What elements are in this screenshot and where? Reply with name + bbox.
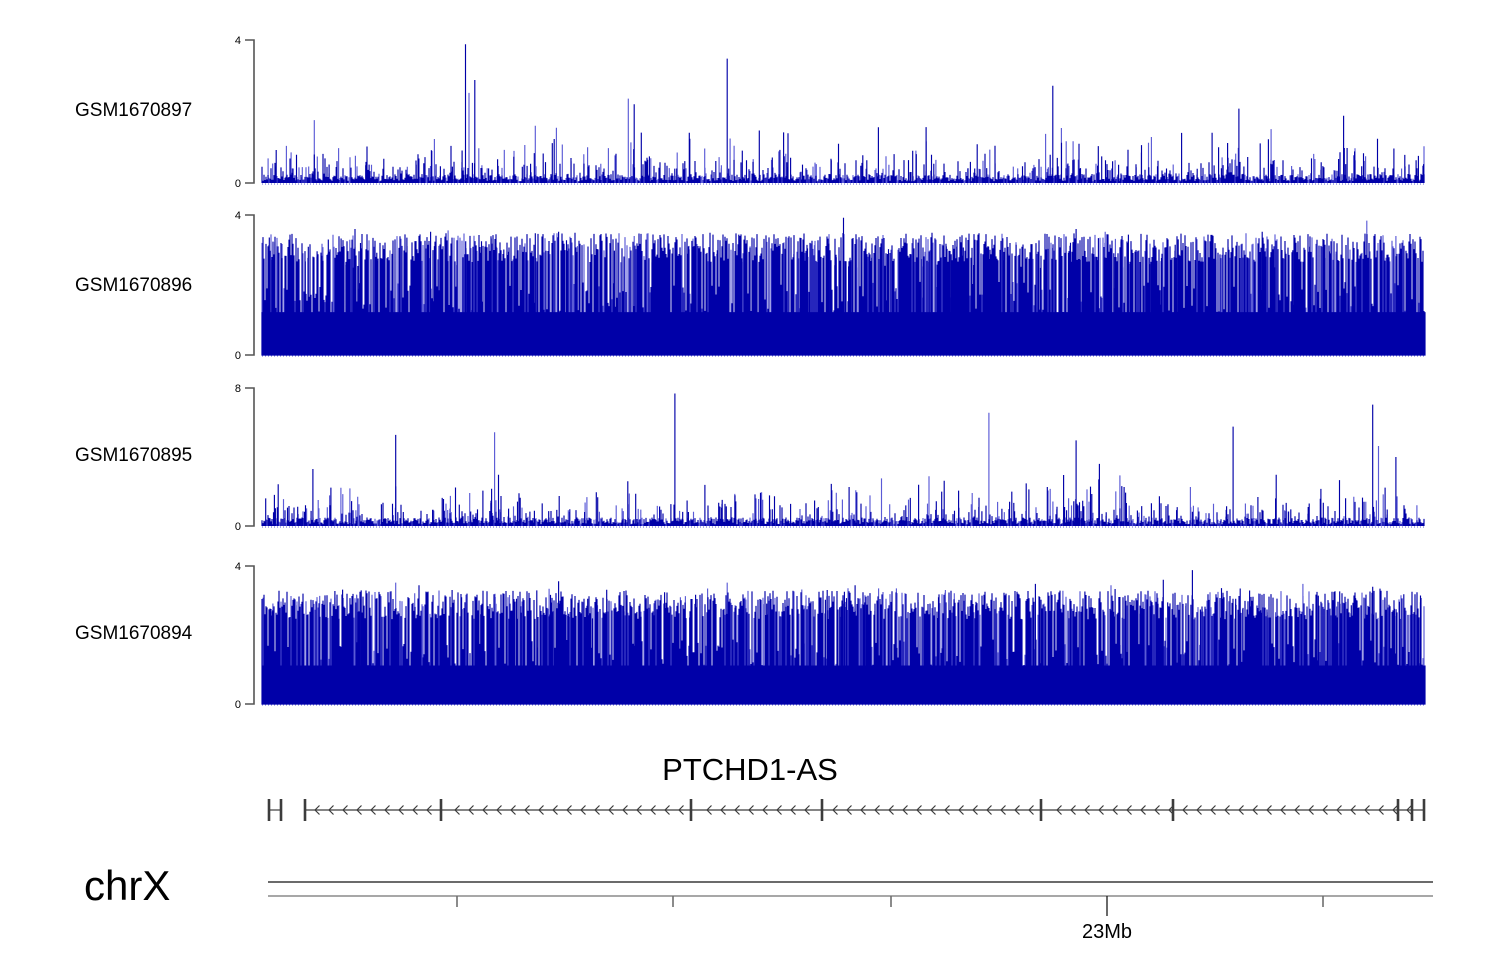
svg-text:4: 4 (235, 210, 241, 222)
coverage-plot[interactable]: 40 (0, 558, 1500, 718)
svg-text:0: 0 (235, 521, 241, 533)
coverage-track[interactable]: GSM1670894 40 (0, 558, 1500, 718)
coverage-track[interactable]: GSM1670896 40 (0, 207, 1500, 369)
svg-text:8: 8 (235, 383, 241, 395)
coverage-bars (262, 394, 1424, 527)
genome-ruler[interactable]: 23Mb (0, 868, 1500, 968)
coverage-plot[interactable]: 80 (0, 380, 1500, 540)
genome-browser-view: GSM1670897 40 GSM1670896 40 GSM1670895 8… (0, 0, 1500, 980)
svg-text:0: 0 (235, 699, 241, 711)
coverage-bars (262, 44, 1424, 183)
coverage-plot[interactable]: 40 (0, 207, 1500, 369)
coverage-bars (262, 570, 1425, 704)
ruler-tick-label: 23Mb (1082, 921, 1132, 943)
gene-transcript (269, 799, 1425, 821)
svg-text:0: 0 (235, 350, 241, 362)
coverage-bars-light (267, 413, 1417, 526)
coverage-track[interactable]: GSM1670897 40 (0, 32, 1500, 197)
coverage-track[interactable]: GSM1670895 80 (0, 380, 1500, 540)
gene-model-track[interactable] (0, 790, 1500, 830)
svg-text:0: 0 (235, 178, 241, 190)
coverage-plot[interactable]: 40 (0, 32, 1500, 197)
coverage-bars-light (268, 93, 1424, 183)
svg-text:4: 4 (235, 35, 241, 47)
coverage-bars (262, 218, 1425, 355)
svg-text:4: 4 (235, 561, 241, 573)
gene-name-label: PTCHD1-AS (0, 752, 1500, 788)
